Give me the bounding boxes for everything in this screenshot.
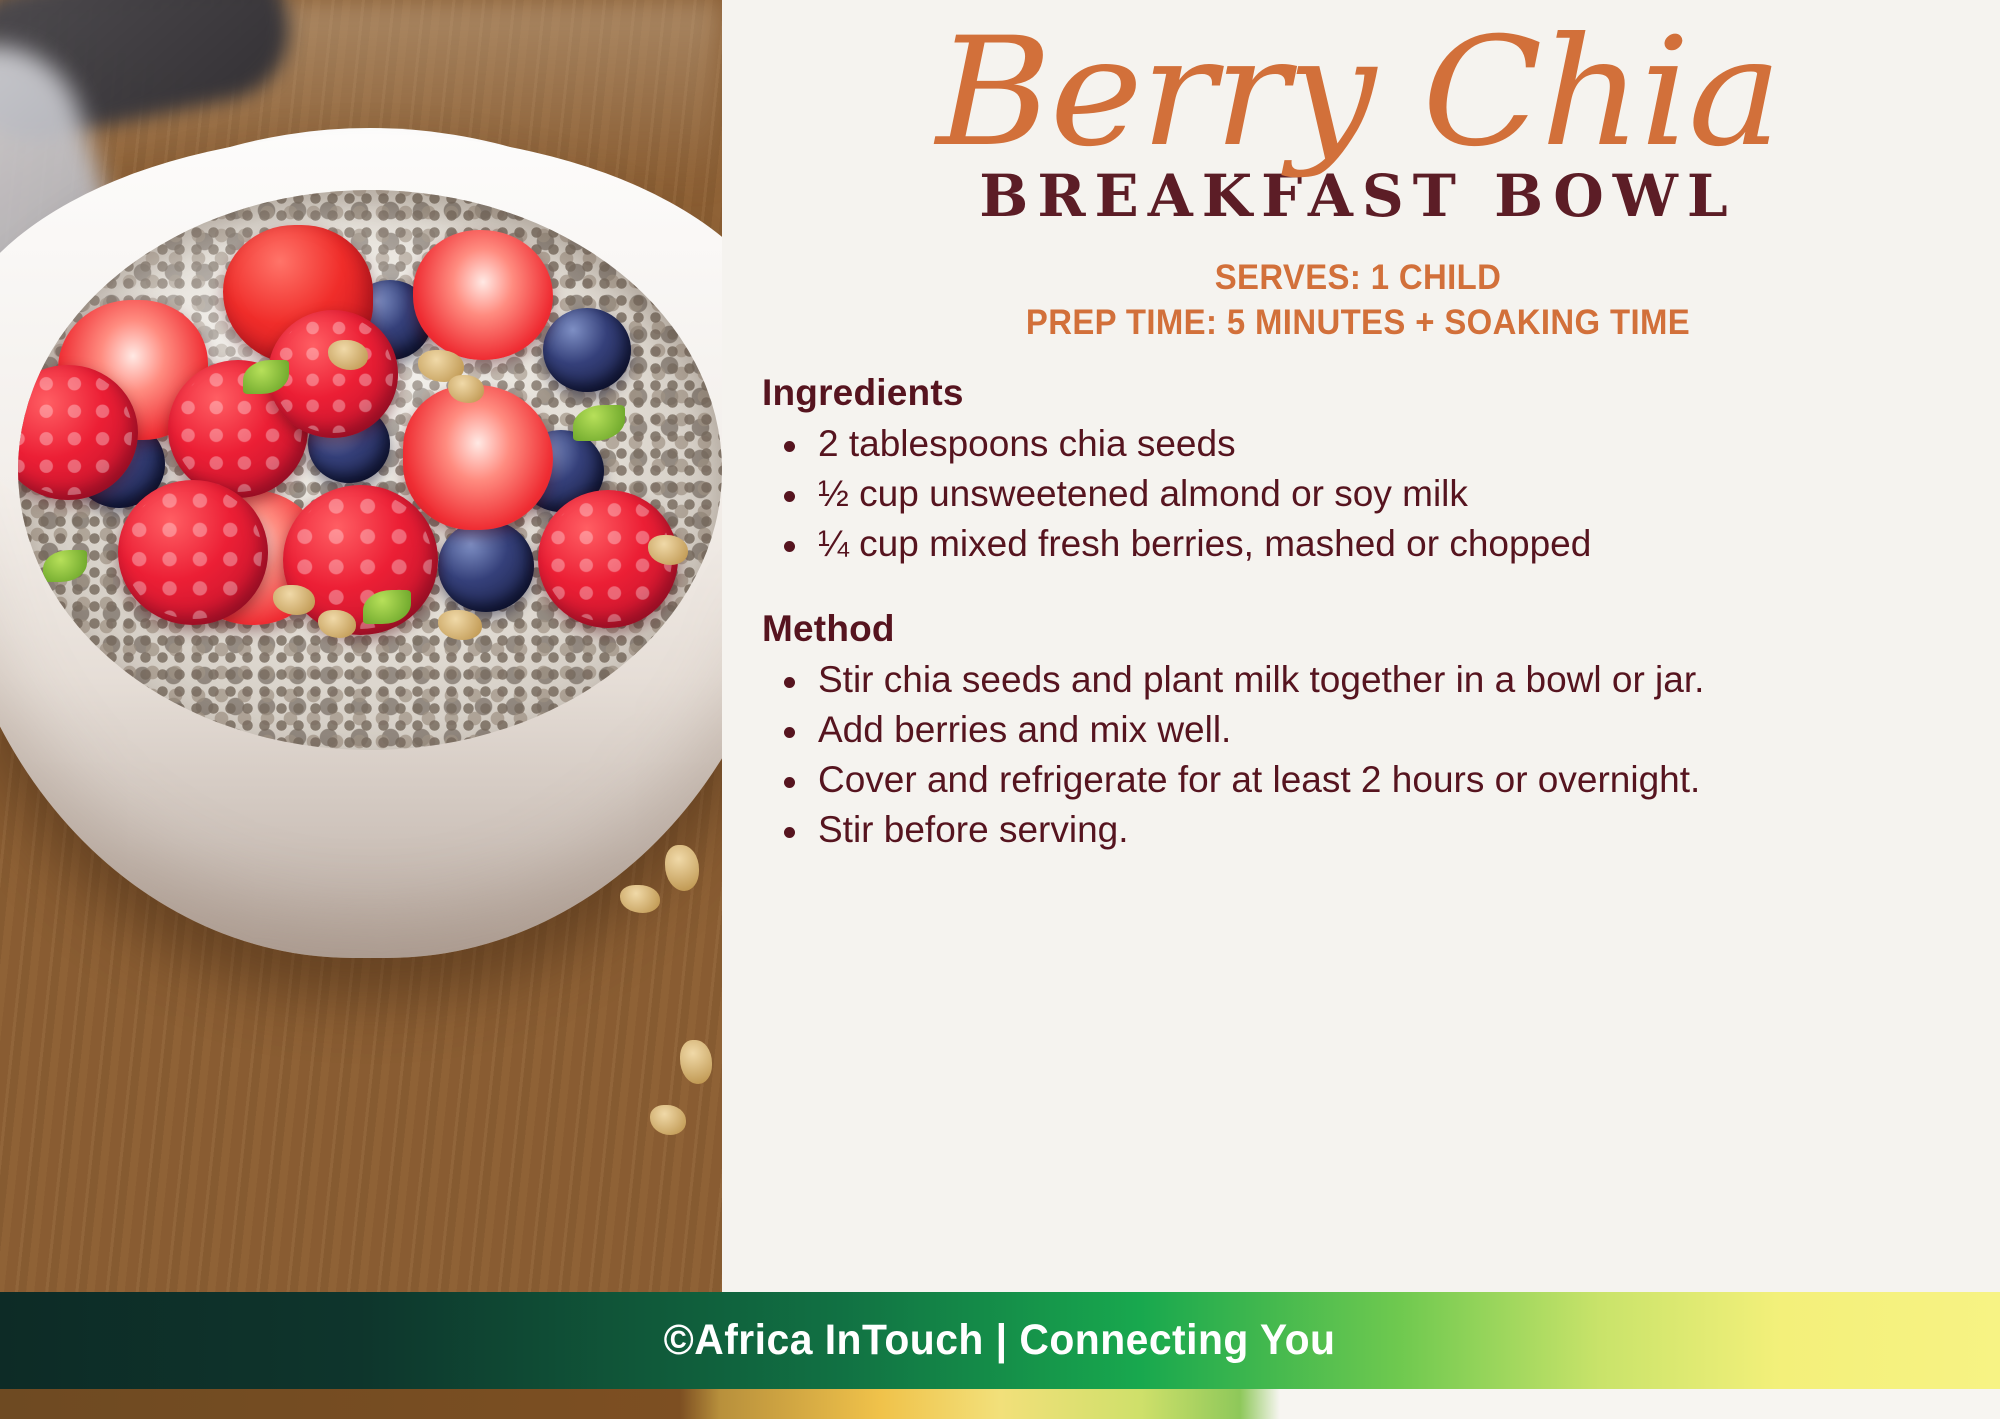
list-item: Add berries and mix well. [762,706,1897,754]
list-item: ½ cup unsweetened almond or soy milk [762,470,1897,518]
strawberry-slice [403,385,553,530]
blueberry [438,520,534,612]
list-item: 2 tablespoons chia seeds [762,420,1897,468]
footer-credit: ©Africa InTouch | Connecting You [664,1316,1336,1365]
method-heading: Method [762,608,1966,650]
bottom-edge-strip [0,1389,2000,1419]
recipe-content: Berry Chia BREAKFAST BOWL SERVES: 1 CHIL… [722,0,2000,1292]
blueberry [543,308,631,392]
white-bowl [0,128,722,958]
ingredients-heading: Ingredients [762,372,1966,414]
serves-line: SERVES: 1 CHILD [786,256,1929,301]
raspberry [118,480,268,625]
recipe-script-title: Berry Chia [720,18,1997,168]
list-item: Cover and refrigerate for at least 2 hou… [762,756,1897,804]
method-list: Stir chia seeds and plant milk together … [762,656,1966,854]
recipe-card: Berry Chia BREAKFAST BOWL SERVES: 1 CHIL… [0,0,2000,1419]
ingredients-section: Ingredients 2 tablespoons chia seeds ½ c… [750,372,1966,568]
prep-time-line: PREP TIME: 5 MINUTES + SOAKING TIME [786,301,1929,346]
footer-bar: ©Africa InTouch | Connecting You [0,1292,2000,1389]
list-item: Stir before serving. [762,806,1897,854]
ingredients-list: 2 tablespoons chia seeds ½ cup unsweeten… [762,420,1966,568]
chia-pudding [18,190,722,750]
method-section: Method Stir chia seeds and plant milk to… [750,608,1966,854]
recipe-meta: SERVES: 1 CHILD PREP TIME: 5 MINUTES + S… [750,256,1966,346]
strawberry-slice [413,230,553,360]
list-item: ¼ cup mixed fresh berries, mashed or cho… [762,520,1897,568]
recipe-photo [0,0,722,1292]
list-item: Stir chia seeds and plant milk together … [762,656,1897,704]
